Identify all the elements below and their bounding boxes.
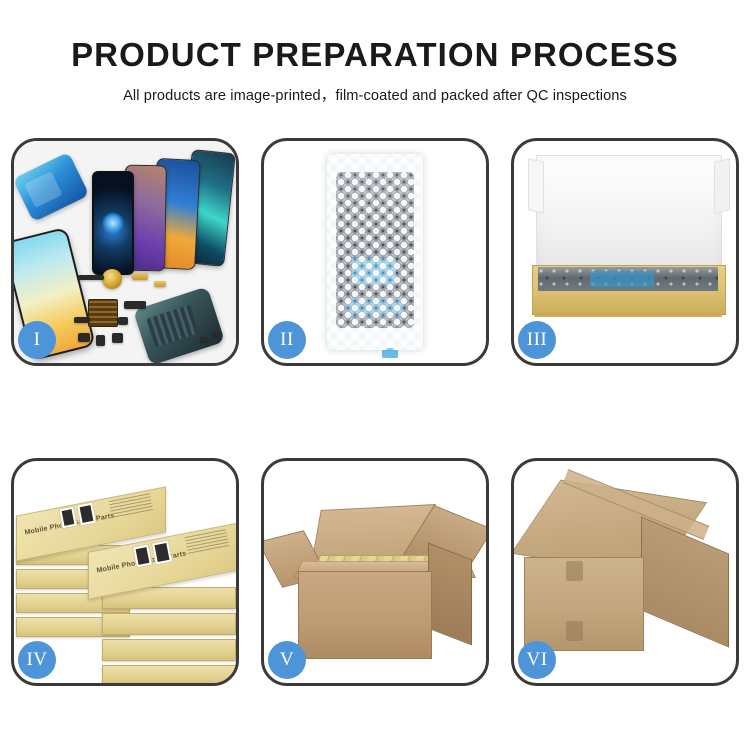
flex-cable-icon — [154, 281, 166, 287]
gold-coil-icon — [102, 269, 122, 289]
step-panel-5: V — [261, 458, 489, 686]
small-part-icon — [118, 317, 128, 325]
screw-icon — [212, 331, 219, 336]
phone-tempered-glass-icon — [92, 171, 134, 275]
page-title: PRODUCT PREPARATION PROCESS — [0, 0, 750, 74]
bubble-wrap-pouch-icon — [327, 154, 423, 350]
carton-side-panel — [641, 516, 729, 647]
open-carton-icon — [270, 479, 486, 673]
step-badge-2: II — [268, 321, 306, 359]
box-edge — [102, 613, 236, 635]
step-badge-4: IV — [18, 641, 56, 679]
carton-front-panel — [524, 557, 644, 651]
step-badge-5: V — [268, 641, 306, 679]
wrapped-parts-row-icon — [538, 267, 718, 291]
small-part-icon — [78, 333, 90, 342]
white-box-lid-icon — [536, 155, 722, 275]
flex-cable-icon — [124, 301, 146, 309]
small-part-icon — [96, 335, 105, 346]
connector-grid-icon — [88, 299, 118, 327]
flex-cable-icon — [132, 273, 148, 280]
step-panel-1: I — [11, 138, 239, 366]
product-preparation-infographic: PRODUCT PREPARATION PROCESS All products… — [0, 0, 750, 750]
carton-front-panel — [298, 571, 432, 659]
header: PRODUCT PREPARATION PROCESS All products… — [0, 0, 750, 105]
step-panel-4: Mobile Phone Spare Parts Mobile Phone Sp… — [11, 458, 239, 686]
box-edge — [102, 665, 236, 683]
sealed-carton-icon — [522, 485, 734, 665]
texture-overlay — [538, 267, 718, 291]
step-panel-6: VI — [511, 458, 739, 686]
step-badge-1: I — [18, 321, 56, 359]
step-panel-2: II — [261, 138, 489, 366]
bubble-texture-icon — [327, 154, 423, 350]
page-subtitle: All products are image-printed，film-coat… — [0, 74, 750, 105]
carton-side-panel — [428, 543, 472, 646]
screw-icon — [200, 337, 208, 342]
carton-hand-hole — [566, 621, 583, 641]
small-part-icon — [78, 275, 104, 280]
box-edge — [102, 639, 236, 661]
step-badge-3: III — [518, 321, 556, 359]
step-panel-3: III — [511, 138, 739, 366]
small-part-icon — [112, 333, 123, 343]
process-steps-grid: I II — [11, 138, 739, 686]
step-badge-6: VI — [518, 641, 556, 679]
small-part-icon — [74, 317, 90, 323]
carton-hand-hole — [566, 561, 583, 581]
